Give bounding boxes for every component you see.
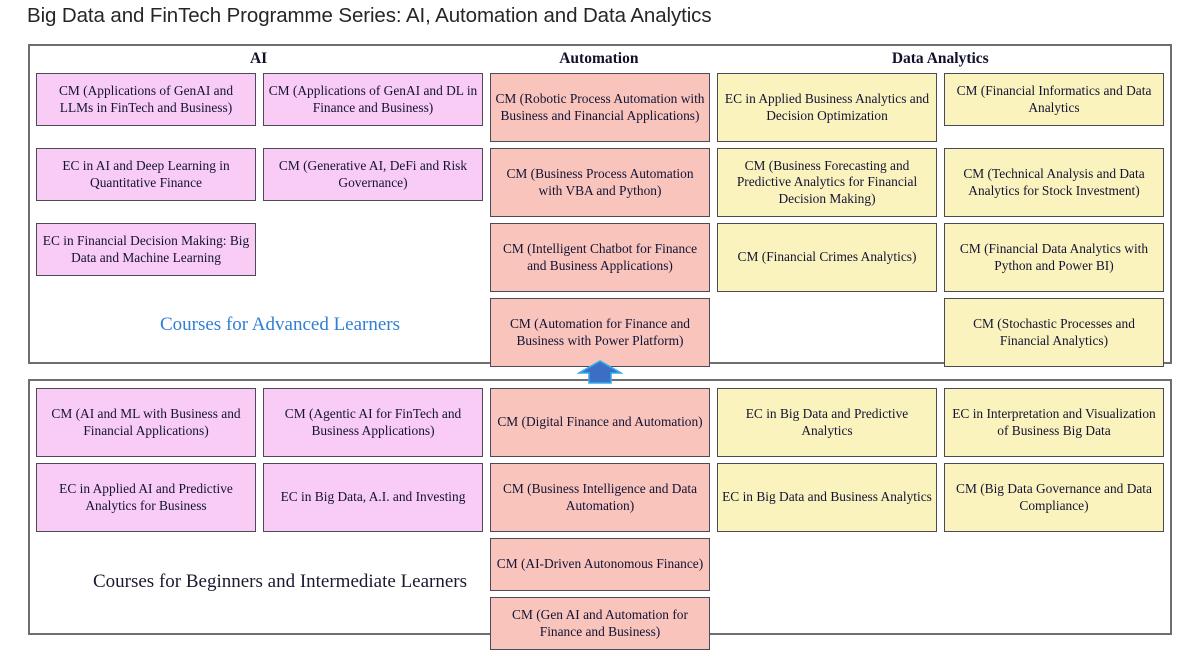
course-box[interactable]: CM (Financial Data Analytics with Python… (944, 223, 1164, 292)
column-header-data-analytics: Data Analytics (711, 50, 1170, 68)
course-box[interactable]: EC in Interpretation and Visualization o… (944, 388, 1164, 457)
course-box[interactable]: CM (Stochastic Processes and Financial A… (944, 298, 1164, 367)
course-box[interactable]: EC in AI and Deep Learning in Quantitati… (36, 148, 256, 201)
column-header-automation: Automation (487, 50, 710, 68)
column-header-row: AI Automation Data Analytics (30, 46, 1170, 72)
course-box[interactable]: CM (Intelligent Chatbot for Finance and … (490, 223, 710, 292)
course-box[interactable]: CM (Technical Analysis and Data Analytic… (944, 148, 1164, 217)
course-box[interactable]: CM (Gen AI and Automation for Finance an… (490, 597, 710, 650)
course-box[interactable]: CM (Digital Finance and Automation) (490, 388, 710, 457)
column-header-ai: AI (30, 50, 487, 68)
course-box[interactable]: CM (Automation for Finance and Business … (490, 298, 710, 367)
caption-advanced-learners: Courses for Advanced Learners (60, 314, 500, 336)
course-box[interactable]: EC in Financial Decision Making: Big Dat… (36, 223, 256, 276)
course-box[interactable]: EC in Applied AI and Predictive Analytic… (36, 463, 256, 532)
caption-beginner-intermediate-learners: Courses for Beginners and Intermediate L… (60, 571, 500, 593)
course-box[interactable]: CM (Robotic Process Automation with Busi… (490, 73, 710, 142)
course-box[interactable]: CM (Agentic AI for FinTech and Business … (263, 388, 483, 457)
upward-arrow-icon (577, 360, 623, 384)
course-grid-beginner: CM (AI and ML with Business and Financia… (30, 381, 1170, 650)
panel-advanced-learners: AI Automation Data Analytics CM (Applica… (28, 44, 1172, 364)
panel-beginner-intermediate-learners: CM (AI and ML with Business and Financia… (28, 379, 1172, 635)
course-box[interactable]: CM (Applications of GenAI and LLMs in Fi… (36, 73, 256, 126)
course-box[interactable]: EC in Big Data and Predictive Analytics (717, 388, 937, 457)
course-box[interactable]: CM (Business Process Automation with VBA… (490, 148, 710, 217)
course-box[interactable]: CM (Big Data Governance and Data Complia… (944, 463, 1164, 532)
course-box[interactable]: CM (AI and ML with Business and Financia… (36, 388, 256, 457)
course-box[interactable]: CM (Applications of GenAI and DL in Fina… (263, 73, 483, 126)
course-box[interactable]: CM (Generative AI, DeFi and Risk Governa… (263, 148, 483, 201)
course-box[interactable]: CM (AI-Driven Autonomous Finance) (490, 538, 710, 591)
course-box[interactable]: EC in Big Data, A.I. and Investing (263, 463, 483, 532)
course-box[interactable]: EC in Big Data and Business Analytics (717, 463, 937, 532)
course-box[interactable]: EC in Applied Business Analytics and Dec… (717, 73, 937, 142)
page-title: Big Data and FinTech Programme Series: A… (27, 2, 711, 30)
course-box[interactable]: CM (Financial Informatics and Data Analy… (944, 73, 1164, 126)
course-box[interactable]: CM (Business Forecasting and Predictive … (717, 148, 937, 217)
course-box[interactable]: CM (Business Intelligence and Data Autom… (490, 463, 710, 532)
course-box[interactable]: CM (Financial Crimes Analytics) (717, 223, 937, 292)
